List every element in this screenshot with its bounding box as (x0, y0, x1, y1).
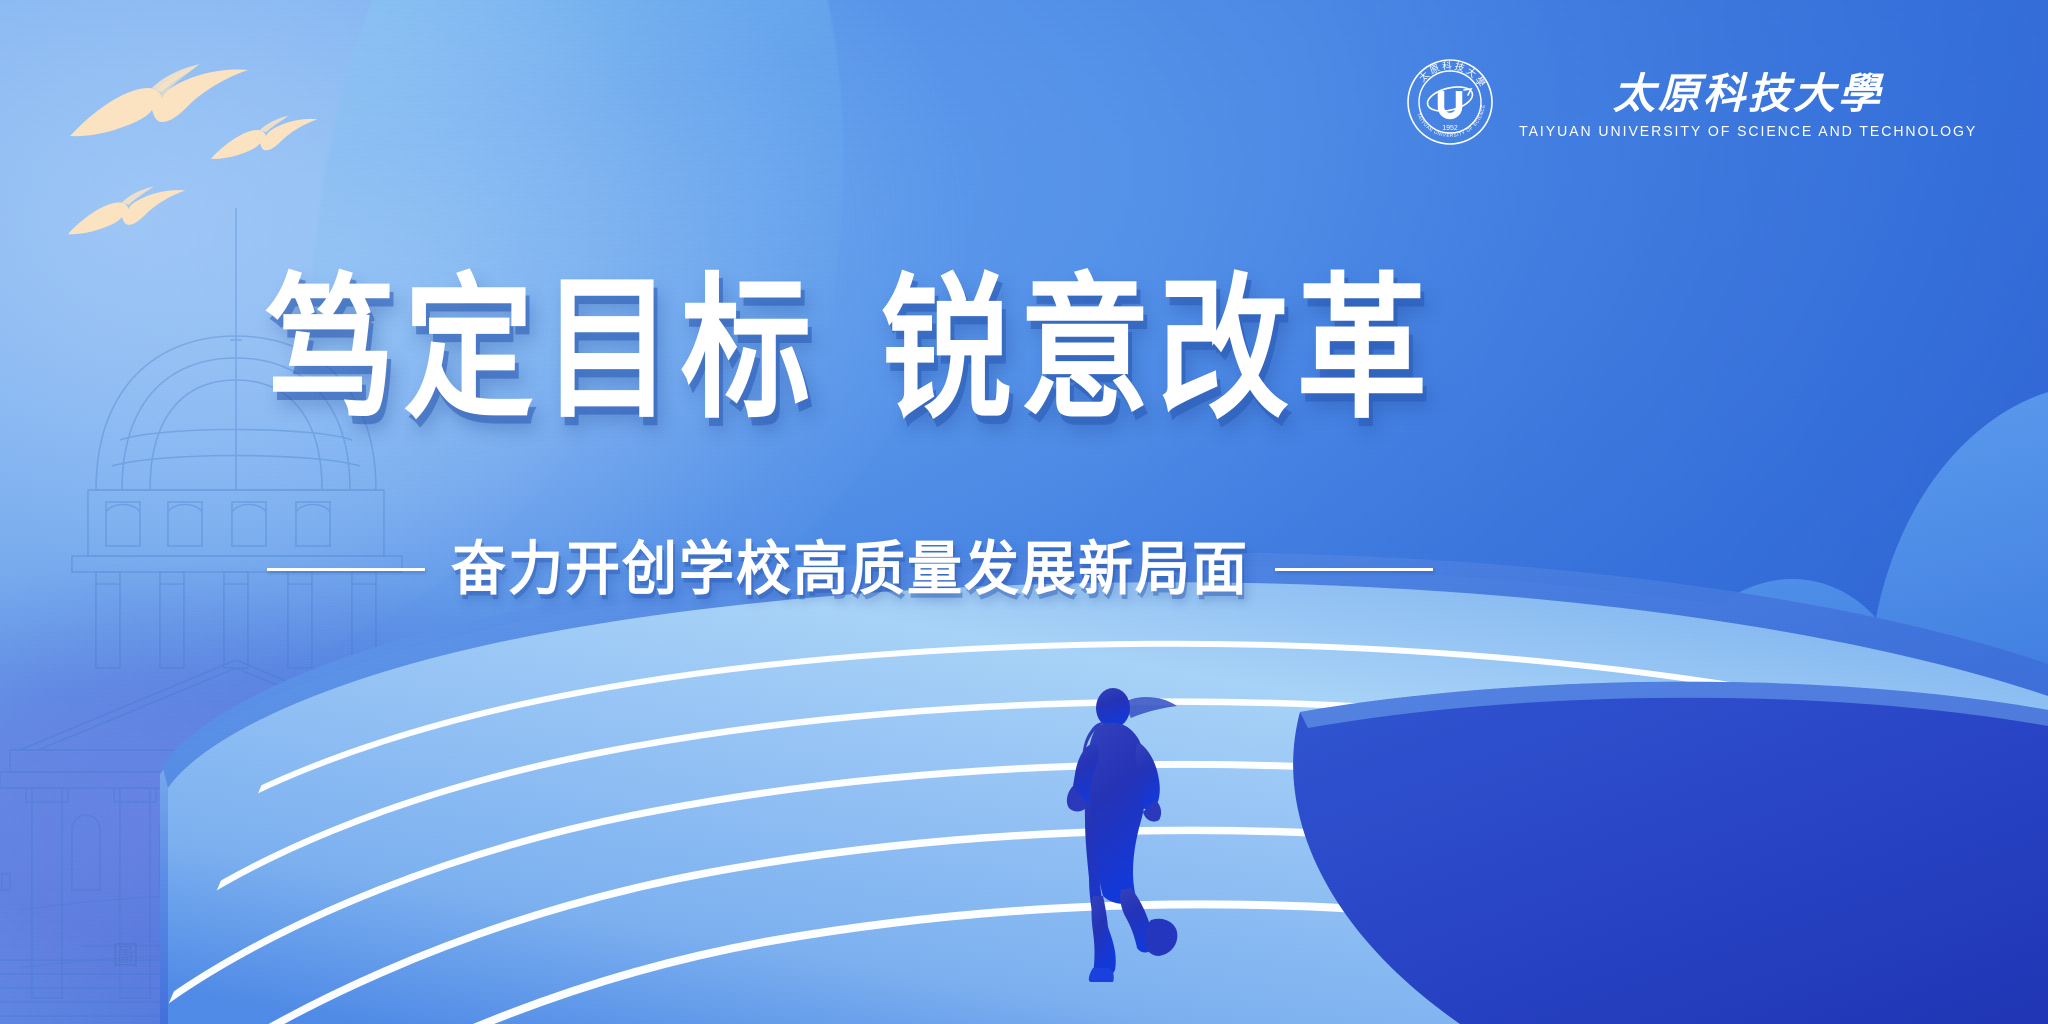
texture-overlay (0, 0, 2048, 1024)
banner-canvas: 圖書館 (0, 0, 2048, 1024)
